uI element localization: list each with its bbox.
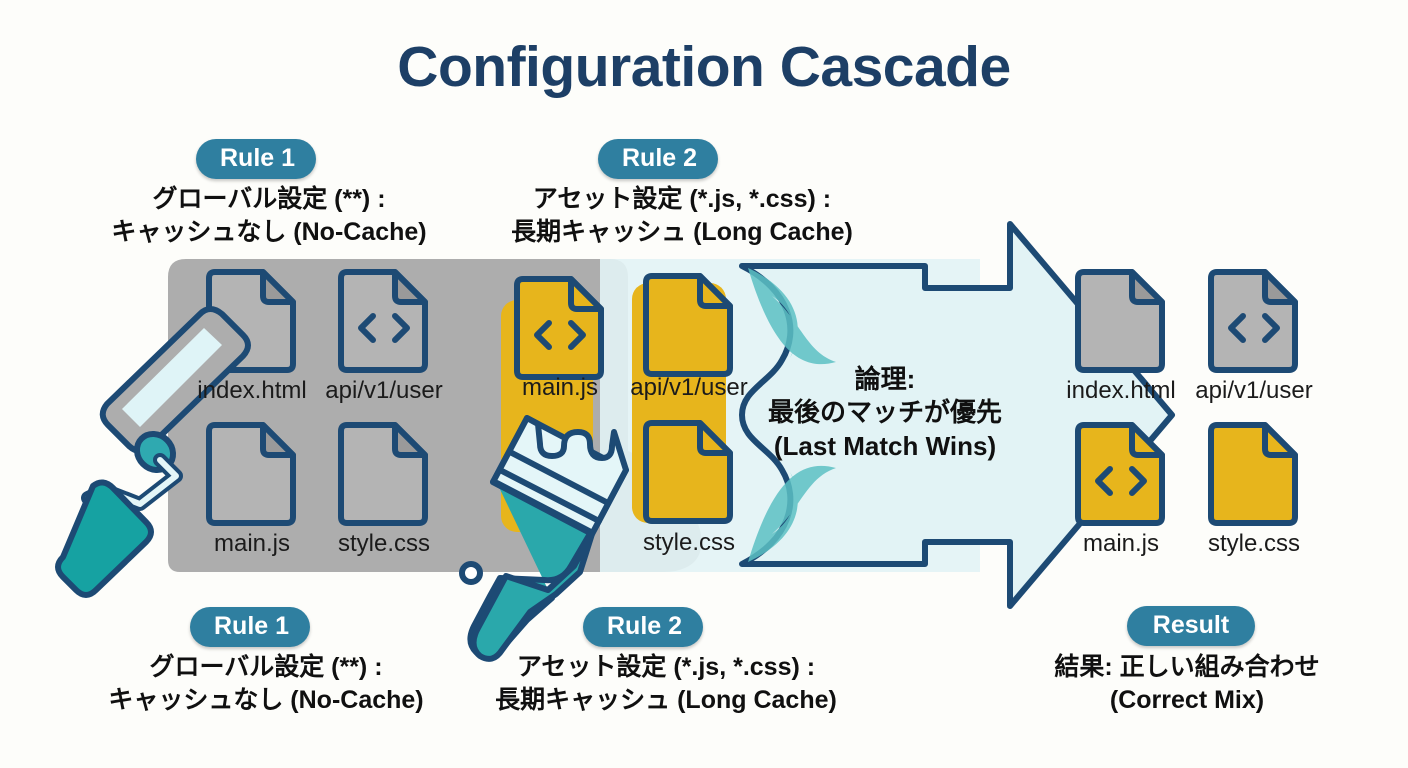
badge-rule1-bottom: Rule 1 (190, 607, 310, 647)
file-label-api-v1-user-rule1: api/v1/user (325, 377, 442, 405)
caption-result-bottom-line1: 結果: 正しい組み合わせ (1054, 653, 1319, 681)
file-label-api-v1-user-rule2: api/v1/user (630, 374, 747, 402)
file-label-style-css-result: style.css (1208, 530, 1300, 558)
file-label-main-js-rule2: main.js (522, 374, 598, 402)
file-label-main-js-rule1: main.js (214, 530, 290, 558)
caption-rule2-bottom: アセット設定 (*.js, *.css) : 長期キャッシュ (Long Cac… (475, 651, 857, 716)
diagram-canvas: Configuration Cascade Rule 1 グローバル設定 (**… (0, 0, 1408, 768)
caption-rule1-bottom-line1: グローバル設定 (**) : (149, 653, 382, 681)
file-label-style-css-rule2: style.css (643, 529, 735, 557)
file-label-index-html-rule1: index.html (197, 377, 306, 405)
file-label-index-html-result: index.html (1066, 377, 1175, 405)
badge-result-bottom: Result (1127, 606, 1255, 646)
arrow-logic-line1: 論理: (855, 364, 916, 394)
caption-rule2-bottom-line1: アセット設定 (*.js, *.css) : (517, 653, 815, 681)
caption-result-bottom-line2: (Correct Mix) (1022, 684, 1352, 717)
badge-rule2-bottom: Rule 2 (583, 607, 703, 647)
arrow-logic-line2: 最後のマッチが優先 (760, 396, 1010, 429)
arrow-logic-line3: (Last Match Wins) (760, 430, 1010, 463)
caption-rule1-bottom-line2: キャッシュなし (No-Cache) (101, 684, 431, 717)
file-label-style-css-rule1: style.css (338, 530, 430, 558)
file-label-main-js-result: main.js (1083, 530, 1159, 558)
caption-result-bottom: 結果: 正しい組み合わせ (Correct Mix) (1022, 651, 1352, 716)
caption-rule2-bottom-line2: 長期キャッシュ (Long Cache) (475, 684, 857, 717)
caption-rule1-bottom: グローバル設定 (**) : キャッシュなし (No-Cache) (101, 651, 431, 716)
file-label-api-v1-user-result: api/v1/user (1195, 377, 1312, 405)
arrow-logic-text: 論理: 最後のマッチが優先 (Last Match Wins) (760, 363, 1010, 463)
